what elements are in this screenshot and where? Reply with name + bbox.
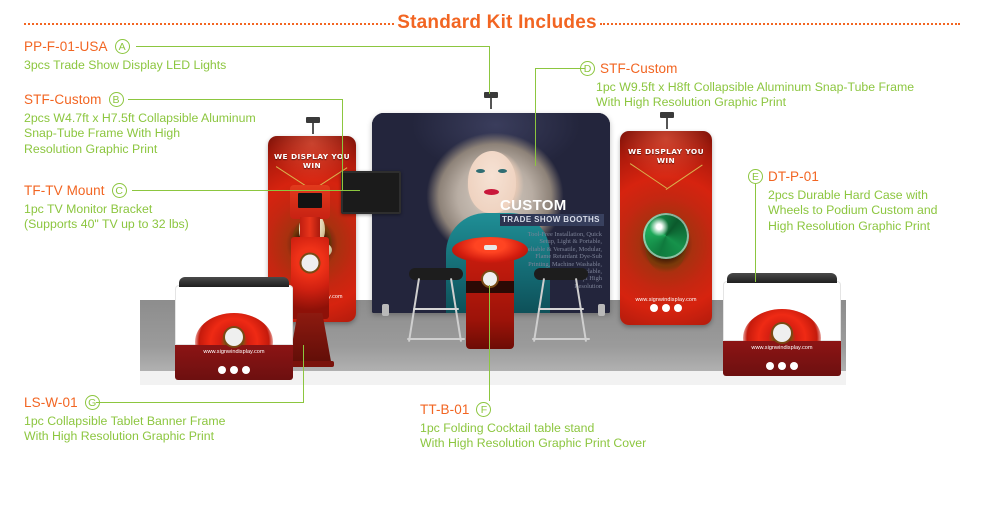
twitter-icon	[662, 304, 670, 312]
callout-g-code: LS-W-01	[24, 395, 78, 410]
facebook-icon	[650, 304, 658, 312]
callout-c: TF-TV MountC 1pc TV Monitor Bracket (Sup…	[24, 182, 314, 233]
callout-g-desc: 1pc Collapsible Tablet Banner Frame With…	[24, 414, 324, 445]
twitter-icon	[778, 362, 786, 370]
tablet-logo-badge	[302, 255, 319, 272]
instagram-icon	[674, 304, 682, 312]
podium-counter-top	[727, 273, 837, 283]
callout-e-badge: E	[748, 169, 763, 184]
callout-a-title-row: PP-F-01-USAA	[24, 38, 324, 56]
callout-b-badge: B	[109, 92, 124, 107]
podium-url: www.signwindisplay.com	[175, 349, 293, 355]
callout-d-code: STF-Custom	[600, 61, 678, 76]
leader-line-d	[535, 68, 585, 69]
tablet-graphic	[291, 237, 329, 319]
facebook-icon	[766, 362, 774, 370]
podium-counter-top	[179, 277, 289, 287]
callout-f: TT-B-01F 1pc Folding Cocktail table stan…	[420, 401, 750, 452]
callout-b-title-row: STF-CustomB	[24, 91, 314, 109]
callout-d: DSTF-Custom 1pc W9.5ft x H8ft Collapsibl…	[580, 60, 980, 111]
callout-a-desc: 3pcs Trade Show Display LED Lights	[24, 58, 324, 73]
table-top	[452, 237, 528, 263]
leader-line-b-drop	[342, 99, 343, 191]
led-arm-center	[490, 98, 492, 109]
callout-e-title-row: EDT-P-01	[748, 168, 978, 186]
model-eye-left	[476, 169, 485, 173]
callout-d-badge: D	[580, 61, 595, 76]
podium-social-icons	[723, 357, 841, 375]
podium-social-icons	[175, 361, 293, 379]
tv-monitor	[341, 171, 401, 214]
stool-footrail	[532, 338, 590, 340]
callout-e: EDT-P-01 2pcs Durable Hard Case with Whe…	[748, 168, 978, 234]
stool-leg	[408, 278, 420, 342]
callout-c-code: TF-TV Mount	[24, 183, 105, 198]
callout-f-desc: 1pc Folding Cocktail table stand With Hi…	[420, 421, 750, 452]
callout-b-code: STF-Custom	[24, 92, 102, 107]
facebook-icon	[218, 366, 226, 374]
backdrop-foot-left	[382, 304, 389, 316]
podium-logo-badge	[225, 328, 243, 346]
stool-crossbar	[538, 308, 584, 310]
instagram-icon	[242, 366, 250, 374]
tablet-base	[288, 313, 332, 367]
callout-g: LS-W-01G 1pc Collapsible Tablet Banner F…	[24, 394, 324, 445]
callout-f-code: TT-B-01	[420, 402, 469, 417]
leader-line-d-drop	[535, 68, 536, 166]
callout-c-badge: C	[112, 183, 127, 198]
callout-e-code: DT-P-01	[768, 169, 819, 184]
tablet-foot-plate	[286, 361, 334, 367]
stool-right	[530, 268, 592, 346]
right-graphic-panel: WE DISPLAY YOU WIN www.signwindisplay.co…	[620, 131, 712, 325]
stool-leg	[575, 278, 587, 342]
leader-line-f	[489, 285, 490, 401]
leader-line-a-drop	[489, 46, 490, 94]
backdrop-subhead: TRADE SHOW BOOTHS	[500, 214, 604, 226]
callout-e-desc: 2pcs Durable Hard Case with Wheels to Po…	[768, 188, 978, 234]
model-eye-right	[498, 169, 507, 173]
callout-f-title-row: TT-B-01F	[420, 401, 750, 419]
callout-b-desc: 2pcs W4.7ft x H7.5ft Collapsible Aluminu…	[24, 111, 314, 157]
callout-b: STF-CustomB 2pcs W4.7ft x H7.5ft Collaps…	[24, 91, 314, 157]
podium-logo-badge	[773, 324, 791, 342]
callout-f-badge: F	[476, 402, 491, 417]
callout-d-desc: 1pc W9.5ft x H8ft Collapsible Aluminum S…	[596, 80, 980, 111]
callout-a-code: PP-F-01-USA	[24, 39, 108, 54]
right-panel-social-icons	[620, 299, 712, 317]
right-pendant-emerald	[643, 213, 689, 259]
twitter-icon	[230, 366, 238, 374]
callout-a: PP-F-01-USAA 3pcs Trade Show Display LED…	[24, 38, 324, 73]
callout-a-badge: A	[115, 39, 130, 54]
callout-c-title-row: TF-TV MountC	[24, 182, 314, 200]
stool-leg	[533, 278, 545, 342]
right-panel-slogan: WE DISPLAY YOU WIN	[620, 147, 712, 165]
infographic-canvas: Standard Kit Includes CUSTOM TRADE SHOW …	[0, 0, 984, 511]
instagram-icon	[790, 362, 798, 370]
callout-c-desc: 1pc TV Monitor Bracket (Supports 40" TV …	[24, 202, 314, 233]
table-logo-badge	[483, 272, 497, 286]
callout-d-title-row: DSTF-Custom	[580, 60, 980, 78]
model-lips	[484, 189, 499, 195]
podium-url: www.signwindisplay.com	[723, 345, 841, 351]
callout-g-title-row: LS-W-01G	[24, 394, 324, 412]
podium-right: www.signwindisplay.com	[723, 273, 841, 378]
backdrop-headline: CUSTOM	[500, 197, 604, 214]
callout-g-badge: G	[85, 395, 100, 410]
right-panel-glow	[620, 131, 712, 209]
table-glass	[484, 245, 497, 250]
backdrop-foot-right	[598, 304, 605, 316]
led-arm-right	[666, 118, 668, 129]
podium-left: www.signwindisplay.com	[175, 277, 293, 382]
